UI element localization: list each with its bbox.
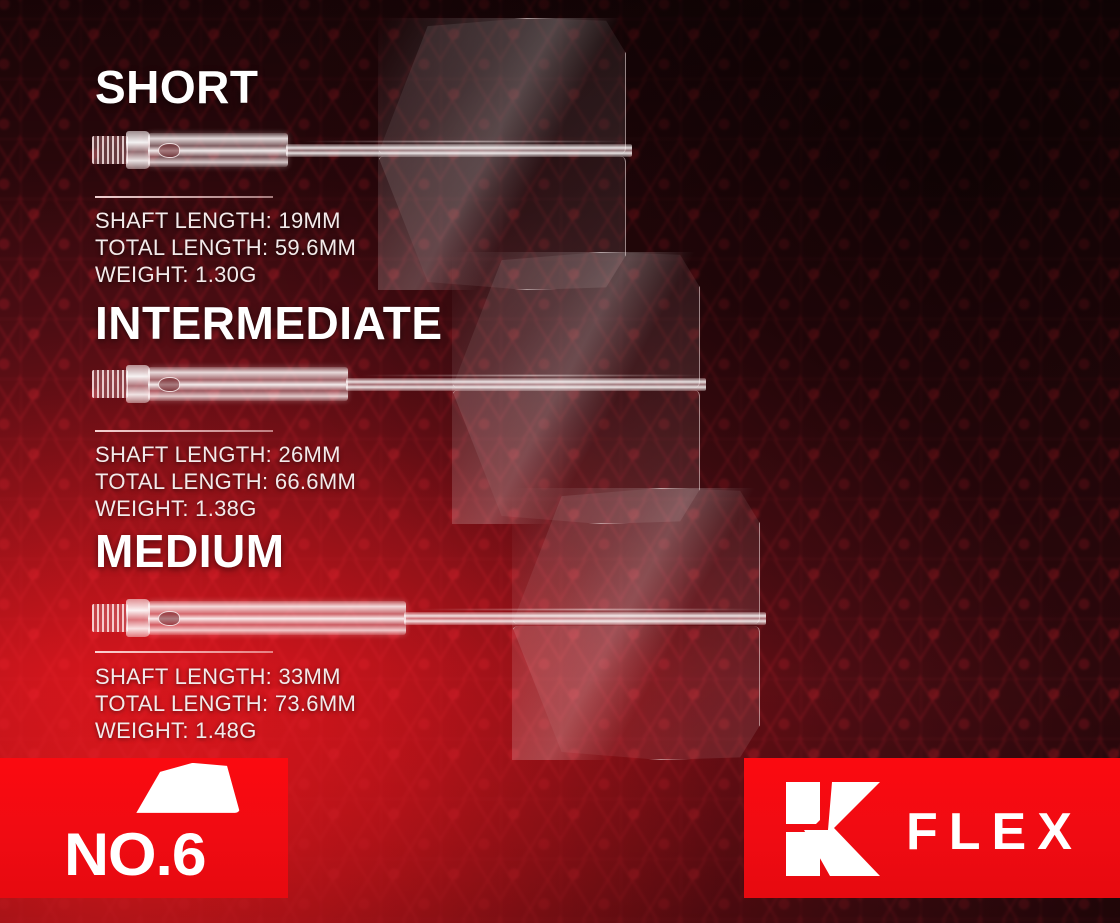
shaft-thread-short <box>92 136 128 164</box>
spec-weight-medium: WEIGHT: 1.48G <box>95 717 356 744</box>
spec-weight-short: WEIGHT: 1.30G <box>95 261 356 288</box>
no6-badge-banner: NO.6 <box>0 758 288 898</box>
divider-short <box>95 196 273 198</box>
spec-shaft-length-short: SHAFT LENGTH: 19MM <box>95 207 356 234</box>
shaft-thread-medium <box>92 604 128 632</box>
stem-highlight-intermediate <box>360 375 704 376</box>
shaft-eye-medium <box>158 611 180 626</box>
stem-highlight-short <box>300 141 630 142</box>
spec-total-length-short: TOTAL LENGTH: 59.6MM <box>95 234 356 261</box>
specs-medium: SHAFT LENGTH: 33MM TOTAL LENGTH: 73.6MM … <box>95 663 356 744</box>
shaft-body-medium <box>148 601 406 635</box>
k-logo-icon <box>780 780 884 883</box>
variant-title-medium: MEDIUM <box>95 528 285 574</box>
variant-title-short: SHORT <box>95 64 259 110</box>
shaft-stem-medium <box>404 612 766 625</box>
spec-sheet-canvas: SHORT SHAFT LENGTH: 19MM TOTAL LENGTH: 5… <box>0 0 1120 923</box>
variant-title-intermediate: INTERMEDIATE <box>95 300 443 346</box>
spec-shaft-length-intermediate: SHAFT LENGTH: 26MM <box>95 441 356 468</box>
shaft-collar-intermediate <box>126 365 150 403</box>
spec-shaft-length-medium: SHAFT LENGTH: 33MM <box>95 663 356 690</box>
kflex-label: FLEX <box>906 806 1083 858</box>
specs-intermediate: SHAFT LENGTH: 26MM TOTAL LENGTH: 66.6MM … <box>95 441 356 522</box>
kflex-badge: FLEX <box>780 780 1083 883</box>
no6-badge: NO.6 <box>64 827 200 882</box>
spec-total-length-intermediate: TOTAL LENGTH: 66.6MM <box>95 468 356 495</box>
shaft-eye-intermediate <box>158 377 180 392</box>
shaft-stem-short <box>286 144 632 157</box>
shaft-collar-medium <box>126 599 150 637</box>
stem-highlight-medium <box>418 609 764 610</box>
shaft-stem-intermediate <box>346 378 706 391</box>
spec-total-length-medium: TOTAL LENGTH: 73.6MM <box>95 690 356 717</box>
shaft-thread-intermediate <box>92 370 128 398</box>
specs-short: SHAFT LENGTH: 19MM TOTAL LENGTH: 59.6MM … <box>95 207 356 288</box>
dart-flight-icon <box>132 763 240 813</box>
shaft-eye-short <box>158 143 180 158</box>
kflex-badge-banner: FLEX <box>744 758 1120 898</box>
shaft-collar-short <box>126 131 150 169</box>
divider-intermediate <box>95 430 273 432</box>
divider-medium <box>95 651 273 653</box>
spec-weight-intermediate: WEIGHT: 1.38G <box>95 495 356 522</box>
no6-label: NO.6 <box>64 827 205 882</box>
